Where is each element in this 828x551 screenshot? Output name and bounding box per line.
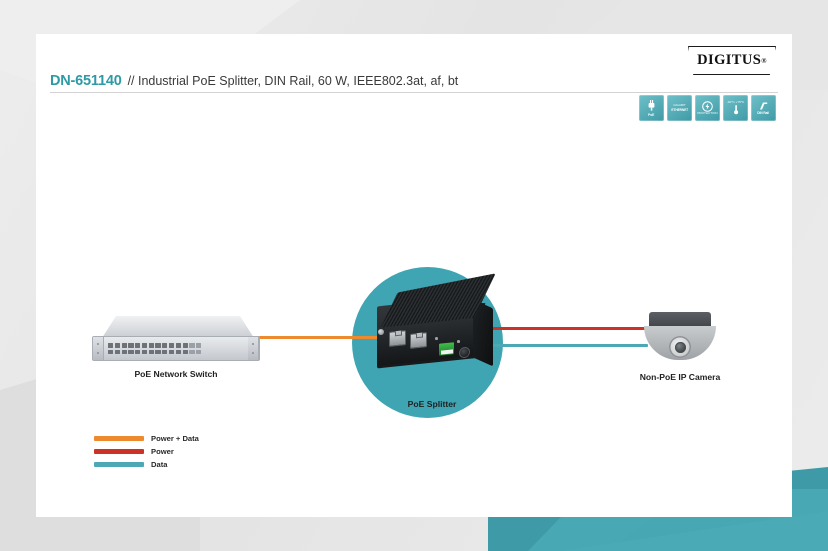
splitter-to-camera-data-cable — [486, 344, 648, 347]
switch-port-array — [104, 343, 248, 353]
legend: Power + Data Power Data — [94, 432, 199, 471]
poe-plug-icon — [647, 100, 656, 113]
feature-badge-list: PoE GIGABIT ETHERNET PROTECTION -40°C +7… — [639, 95, 776, 121]
splitter-terminal-block — [439, 342, 454, 356]
switch-front-panel — [92, 336, 260, 361]
legend-swatch-power — [94, 449, 144, 454]
registered-mark: ® — [761, 57, 767, 65]
splitter-led-2 — [457, 340, 460, 343]
splitter-to-camera-power-cable — [486, 327, 648, 330]
poe-splitter-label: PoE Splitter — [369, 399, 495, 409]
camera-lens — [675, 342, 686, 353]
gigabit-ethernet-badge: GIGABIT ETHERNET — [667, 95, 692, 121]
non-poe-ip-camera — [644, 312, 716, 360]
poe-network-switch-label: PoE Network Switch — [92, 369, 260, 379]
legend-label-power-data: Power + Data — [151, 434, 199, 443]
product-description: // Industrial PoE Splitter, DIN Rail, 60… — [128, 74, 459, 88]
legend-label-data: Data — [151, 460, 167, 469]
surge-badge-label: PROTECTION — [697, 112, 717, 116]
temperature-badge-label: -40°C +75°C — [727, 101, 745, 105]
legend-swatch-data — [94, 462, 144, 467]
poe-badge: PoE — [639, 95, 664, 121]
thermometer-icon — [731, 104, 741, 115]
content-card: DIGITUS® DN-651140// Industrial PoE Spli… — [36, 34, 792, 517]
header-divider — [50, 92, 778, 93]
splitter-rj45-port-out — [410, 332, 427, 349]
legend-item-data: Data — [94, 458, 199, 471]
poe-splitter — [369, 279, 495, 389]
gigabit-badge-line2: ETHERNET — [671, 108, 688, 112]
splitter-rj45-port-in — [389, 330, 406, 347]
legend-item-power: Power — [94, 445, 199, 458]
surge-protection-badge: PROTECTION — [695, 95, 720, 121]
din-rail-badge-label: DIN Rail — [758, 111, 770, 115]
splitter-led-1 — [435, 337, 438, 340]
din-rail-icon — [758, 101, 769, 111]
digitus-logo-text: DIGITUS — [697, 52, 761, 69]
non-poe-ip-camera-label: Non-PoE IP Camera — [626, 372, 734, 382]
switch-to-splitter-cable — [257, 336, 379, 339]
splitter-ground-screw — [378, 329, 384, 335]
din-rail-badge: DIN Rail — [751, 95, 776, 121]
temperature-range-badge: -40°C +75°C — [723, 95, 748, 121]
poe-network-switch — [92, 316, 260, 361]
switch-top-panel — [102, 316, 254, 338]
switch-rack-ear-left — [93, 337, 104, 360]
poe-badge-label: PoE — [649, 113, 655, 117]
legend-swatch-power-data — [94, 436, 144, 441]
legend-label-power: Power — [151, 447, 174, 456]
product-sku: DN-651140 — [50, 73, 122, 89]
switch-rack-ear-right — [248, 337, 259, 360]
connection-diagram: PoE Network Switch PoE Splitter Non-PoE … — [36, 184, 792, 454]
legend-item-power-data: Power + Data — [94, 432, 199, 445]
digitus-logo: DIGITUS® — [688, 46, 776, 75]
page-title: DN-651140// Industrial PoE Splitter, DIN… — [50, 72, 550, 90]
